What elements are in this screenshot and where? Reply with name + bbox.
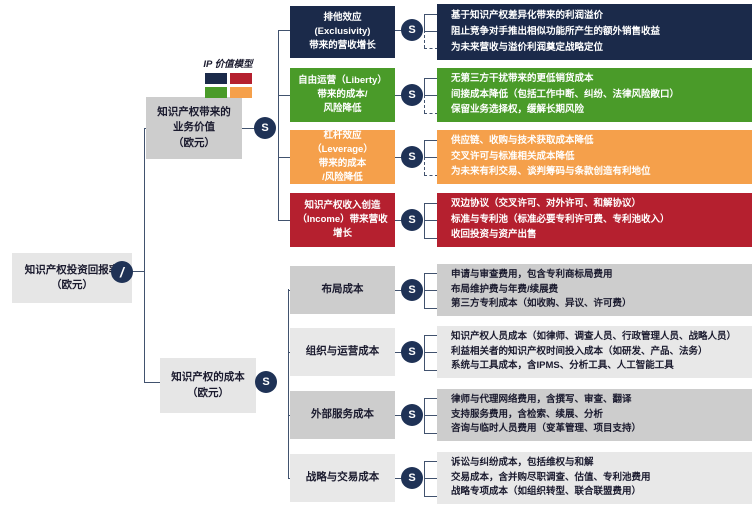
leverage-line2: 带来的成本 <box>296 157 389 171</box>
detail-row: 为未来有利交易、谈判筹码与条款创造有利地位 <box>451 165 752 180</box>
leverage-line3: /风险降低 <box>296 171 389 185</box>
exclusivity-line1: 排他效应 <box>309 11 376 25</box>
liberty-line3: 风险降低 <box>298 102 387 116</box>
cost-strategy-label: 战略与交易成本 <box>306 470 380 485</box>
legend-swatches <box>182 73 274 98</box>
root-roi-label-line1: 知识产权投资回报率 <box>25 263 120 278</box>
line-income-detail-spine <box>424 203 425 239</box>
line-external-detail-2 <box>424 415 438 416</box>
pillar-box-income: 知识产权收入创造 （Income）带来营收增长 <box>290 193 395 247</box>
detail-row: 知识产权人员成本（如律师、调查人员、行政管理人员、战略人员） <box>451 330 752 345</box>
cost-organisation-label: 组织与运营成本 <box>306 344 380 359</box>
detail-panel-filing: 申请与审查费用，包含专利商标局费用 布局维护费与年费/续展费 第三方专利成本（如… <box>437 264 752 316</box>
liberty-connector[interactable]: S <box>402 85 422 105</box>
diagram-canvas: 知识产权投资回报率 （欧元） / 知识产权带来的 业务价值 （欧元） S 知识产… <box>0 0 752 512</box>
divider-node[interactable]: / <box>112 262 132 282</box>
branch-box-ip-cost: 知识产权的成本 （欧元） <box>160 358 256 413</box>
line-external-detail-1 <box>424 398 438 399</box>
detail-row: 间接成本降低（包括工作中断、纠纷、法律风险敞口） <box>451 87 752 102</box>
exclusivity-connector[interactable]: S <box>402 20 422 40</box>
line-liberty-detail-3 <box>424 113 438 114</box>
line-strategy-detail-3 <box>424 496 438 497</box>
line-exclusivity-detail-spine-dashed <box>424 30 425 48</box>
cost-box-external-services: 外部服务成本 <box>290 391 395 439</box>
detail-panel-leverage: 供应链、收购与技术获取成本降低 交叉许可与标准相关成本降低 为未来有利交易、谈判… <box>437 130 752 184</box>
line-fan-leverage <box>278 157 290 158</box>
detail-row: 收回投资与资产出售 <box>451 228 752 243</box>
legend-swatch-liberty <box>205 87 227 98</box>
line-exclusivity-detail-3 <box>424 48 438 49</box>
leverage-line1: 杠杆效应（Leverage） <box>296 129 389 158</box>
root-roi-label-line2: （欧元） <box>25 278 120 293</box>
line-fan-exclusivity <box>278 30 290 31</box>
line-liberty-detail-2 <box>424 95 438 96</box>
line-filing-detail-2 <box>424 290 438 291</box>
pillar-box-leverage: 杠杆效应（Leverage） 带来的成本 /风险降低 <box>290 130 395 184</box>
detail-panel-exclusivity: 基于知识产权差异化带来的利润溢价 阻止竞争对手推出相似功能所产生的额外销售收益 … <box>437 4 752 60</box>
detail-row: 支持服务费用，含检索、续展、分析 <box>451 408 752 423</box>
detail-row: 战略专项成本（如组织转型、联合联盟费用） <box>451 485 752 500</box>
line-liberty-detail-1 <box>424 78 438 79</box>
detail-row: 利益相关者的知识产权时间投入成本（如研发、产品、法务） <box>451 345 752 360</box>
line-leverage-detail-1 <box>424 140 438 141</box>
business-value-line2: 业务价值 <box>157 120 231 135</box>
line-leverage-detail-spine-dashed <box>424 157 425 175</box>
detail-row: 为未来营收与溢价利润奠定战略定位 <box>451 40 752 56</box>
ip-cost-line1: 知识产权的成本 <box>171 370 245 385</box>
line-fan-income <box>278 220 290 221</box>
detail-row: 系统与工具成本，含IPMS、分析工具、人工智能工具 <box>451 359 752 374</box>
detail-row: 双边协议（交叉许可、对外许可、和解协议） <box>451 197 752 212</box>
external-connector[interactable]: S <box>402 405 422 425</box>
line-leverage-detail-2 <box>424 157 438 158</box>
exclusivity-line2: (Exclusivity) <box>309 25 376 39</box>
legend-swatch-leverage <box>230 87 252 98</box>
detail-row: 标准与专利池（标准必要专利许可费、专利池收入） <box>451 212 752 227</box>
cost-external-label: 外部服务成本 <box>311 407 374 422</box>
detail-row: 布局维护费与年费/续展费 <box>451 283 752 298</box>
cost-box-strategy-transactions: 战略与交易成本 <box>290 454 395 502</box>
line-organisation-detail-1 <box>424 335 438 336</box>
legend-swatch-income <box>230 73 252 84</box>
detail-row: 交叉许可与标准相关成本降低 <box>451 149 752 164</box>
cost-box-organisation: 组织与运营成本 <box>290 328 395 376</box>
pillar-box-liberty: 自由运营（Liberty） 带来的成本/ 风险降低 <box>290 68 395 122</box>
line-strategy-detail-1 <box>424 461 438 462</box>
line-exclusivity-detail-2 <box>424 31 438 32</box>
line-fan-liberty <box>278 95 290 96</box>
detail-panel-strategy-transactions: 诉讼与纠纷成本，包括维权与和解 交易成本，含并购尽职调查、估值、专利池费用 战略… <box>437 452 752 504</box>
detail-panel-external-services: 律师与代理网络费用，含撰写、审查、翻译 支持服务费用，含检索、续展、分析 咨询与… <box>437 389 752 441</box>
exclusivity-line3: 带来的营收增长 <box>309 39 376 53</box>
line-external-detail-3 <box>424 433 438 434</box>
line-value-to-node <box>242 128 256 129</box>
line-organisation-detail-spine <box>424 335 425 371</box>
detail-row: 诉讼与纠纷成本，包括维权与和解 <box>451 456 752 471</box>
line-leverage-detail-spine <box>424 140 425 158</box>
cost-box-filing: 布局成本 <box>290 266 395 314</box>
line-liberty-detail-spine-dashed <box>424 95 425 113</box>
detail-panel-income: 双边协议（交叉许可、对外许可、和解协议） 标准与专利池（标准必要专利许可费、专利… <box>437 193 752 247</box>
detail-row: 第三方专利成本（如收购、异议、许可费） <box>451 297 752 312</box>
detail-panel-organisation: 知识产权人员成本（如律师、调查人员、行政管理人员、战略人员） 利益相关者的知识产… <box>437 326 752 378</box>
leverage-connector[interactable]: S <box>402 147 422 167</box>
line-income-detail-2 <box>424 220 438 221</box>
pillar-box-exclusivity: 排他效应 (Exclusivity) 带来的营收增长 <box>290 6 395 58</box>
line-organisation-detail-2 <box>424 352 438 353</box>
cost-filing-label: 布局成本 <box>322 282 364 297</box>
legend-title: IP 价值模型 <box>182 56 274 70</box>
income-line2: （Income）带来营收增长 <box>296 213 389 242</box>
line-cost-fan-vertical <box>288 289 289 479</box>
detail-row: 阻止竞争对手推出相似功能所产生的额外销售收益 <box>451 24 752 40</box>
detail-row: 交易成本，含并购尽职调查、估值、专利池费用 <box>451 471 752 486</box>
line-filing-detail-spine <box>424 273 425 309</box>
line-strategy-detail-2 <box>424 478 438 479</box>
detail-row: 无第三方干扰带来的更低销货成本 <box>451 72 752 87</box>
line-root-to-divider <box>132 271 144 272</box>
line-leverage-detail-3 <box>424 175 438 176</box>
line-spine-vertical <box>144 128 145 383</box>
income-connector[interactable]: S <box>402 210 422 230</box>
cost-branch-connector[interactable]: S <box>256 372 276 392</box>
detail-row: 保留业务选择权，缓解长期风险 <box>451 103 752 118</box>
business-value-line1: 知识产权带来的 <box>157 105 231 120</box>
line-income-detail-3 <box>424 238 438 239</box>
value-branch-connector[interactable]: S <box>255 118 275 138</box>
detail-row: 咨询与临时人员费用（变革管理、项目支持） <box>451 422 752 437</box>
legend: IP 价值模型 <box>182 56 274 98</box>
business-value-line3: （欧元） <box>157 136 231 151</box>
detail-row: 供应链、收购与技术获取成本降低 <box>451 134 752 149</box>
line-value-fan-vertical <box>278 30 279 220</box>
liberty-line1: 自由运营（Liberty） <box>298 74 387 88</box>
line-exclusivity-detail-spine <box>424 14 425 31</box>
line-strategy-detail-spine <box>424 461 425 497</box>
filing-connector[interactable]: S <box>402 280 422 300</box>
detail-row: 申请与审查费用，包含专利商标局费用 <box>451 268 752 283</box>
line-filing-detail-3 <box>424 308 438 309</box>
legend-swatch-exclusivity <box>205 73 227 84</box>
detail-row: 基于知识产权差异化带来的利润溢价 <box>451 8 752 24</box>
organisation-connector[interactable]: S <box>402 342 422 362</box>
detail-panel-liberty: 无第三方干扰带来的更低销货成本 间接成本降低（包括工作中断、纠纷、法律风险敞口）… <box>437 68 752 122</box>
branch-box-business-value: 知识产权带来的 业务价值 （欧元） <box>146 97 242 159</box>
line-external-detail-spine <box>424 398 425 434</box>
income-line1: 知识产权收入创造 <box>296 199 389 213</box>
line-filing-detail-1 <box>424 273 438 274</box>
detail-row: 律师与代理网络费用，含撰写、审查、翻译 <box>451 393 752 408</box>
line-organisation-detail-3 <box>424 370 438 371</box>
line-liberty-detail-spine <box>424 78 425 96</box>
line-income-detail-1 <box>424 203 438 204</box>
line-exclusivity-detail-1 <box>424 14 438 15</box>
strategy-connector[interactable]: S <box>402 468 422 488</box>
ip-cost-line2: （欧元） <box>171 386 245 401</box>
liberty-line2: 带来的成本/ <box>298 88 387 102</box>
